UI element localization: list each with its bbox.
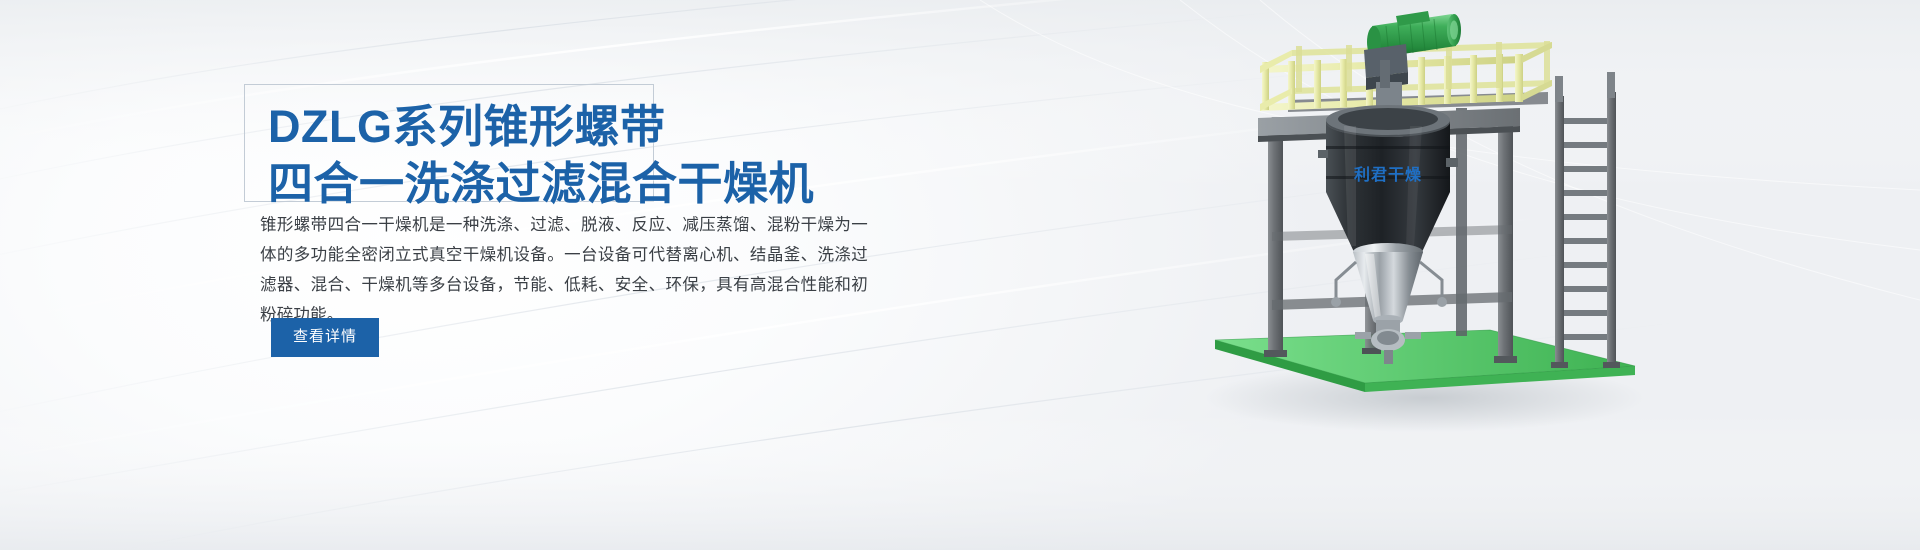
access-ladder bbox=[1551, 72, 1620, 368]
stainless-steel-cone bbox=[1331, 243, 1447, 325]
headline-line-2: 四合一洗涤过滤混合干燥机 bbox=[256, 155, 896, 212]
view-details-button[interactable]: 查看详情 bbox=[271, 318, 379, 357]
hero-content: DZLG系列锥形螺带 四合一洗涤过滤混合干燥机 锥形螺带四合一干燥机是一种洗涤、… bbox=[256, 84, 896, 384]
brand-label: 利君干燥 bbox=[1354, 165, 1422, 184]
product-description: 锥形螺带四合一干燥机是一种洗涤、过滤、脱液、反应、减压蒸馏、混粉干燥为一体的多功… bbox=[260, 210, 868, 330]
hero-banner: DZLG系列锥形螺带 四合一洗涤过滤混合干燥机 锥形螺带四合一干燥机是一种洗涤、… bbox=[0, 0, 1920, 550]
product-illustration: 利君干燥 bbox=[1160, 0, 1920, 550]
page-title: DZLG系列锥形螺带 四合一洗涤过滤混合干燥机 bbox=[256, 84, 896, 212]
headline-line-1: DZLG系列锥形螺带 bbox=[256, 98, 896, 155]
